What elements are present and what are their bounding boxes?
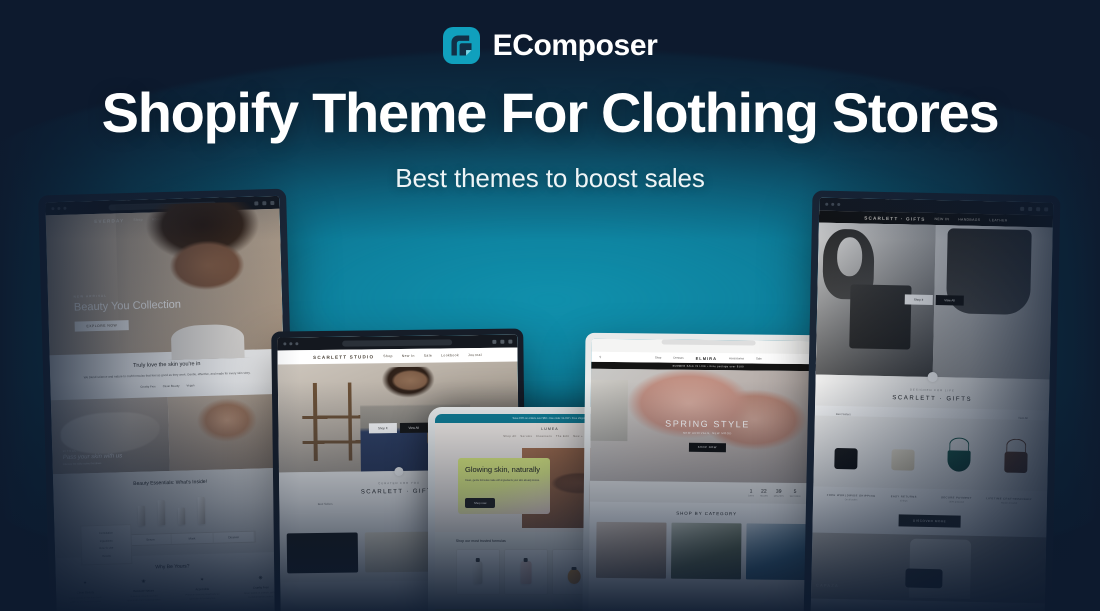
feature-item: FREE WORLDWIDE SHIPPING On all orders bbox=[825, 494, 878, 502]
product-card[interactable] bbox=[991, 427, 1042, 482]
feature-title: LIFETIME CRAFTSMANSHIP bbox=[983, 497, 1036, 501]
countdown-unit: 22 HOURS bbox=[760, 489, 768, 498]
scroll-dot-icon bbox=[394, 467, 403, 476]
countdown-unit: 1 DAYS bbox=[748, 488, 754, 497]
countdown-label: SECONDS bbox=[790, 496, 801, 498]
nav-item[interactable]: HANDBAGS bbox=[958, 218, 980, 222]
beauty-hero: EVERDAY Shop About Journal Rituals Conta… bbox=[46, 209, 284, 355]
countdown-label: HOURS bbox=[760, 496, 768, 498]
hero-body: Clean, gentle formulas made with ingredi… bbox=[465, 479, 543, 483]
why-item-body: Premium skincare priced fairly so good s… bbox=[179, 594, 226, 603]
product-card[interactable] bbox=[364, 532, 435, 573]
feature-item: EASY RETURNS 30 days bbox=[877, 495, 930, 503]
view-all-button[interactable]: View All bbox=[399, 423, 428, 433]
beauty-split-section: RITUAL Pass your skin with us Discover t… bbox=[51, 394, 287, 475]
hero-eyebrow: NEW ARRIVAL bbox=[74, 292, 181, 299]
feature-title: SECURE PAYMENT bbox=[930, 496, 983, 500]
spring-hero-copy: SPRING STYLE NEW ARRIVALS, NEW MOOD SHOP… bbox=[665, 419, 750, 454]
nav-item[interactable]: Shop bbox=[655, 355, 662, 359]
mature-model-photo bbox=[168, 394, 287, 471]
bags-nav-brand: SCARLETT · GIFTS bbox=[864, 215, 925, 221]
window-dots-icon bbox=[283, 342, 298, 345]
window-dots-icon bbox=[51, 207, 66, 210]
tab[interactable]: Mask bbox=[172, 533, 214, 544]
product-card[interactable] bbox=[821, 424, 872, 479]
hero-card: Glowing skin, naturally Clean, gentle fo… bbox=[458, 458, 550, 514]
beauty-essentials-section: Beauty Essentials: What's Inside! Hydrat… bbox=[53, 468, 289, 559]
spring-category-section: SHOP BY CATEGORY bbox=[589, 502, 824, 586]
hero-cta-button[interactable]: EXPLORE NOW bbox=[74, 320, 129, 332]
hero-sub: NEW ARRIVALS, NEW MOOD bbox=[665, 432, 750, 436]
essentials-products bbox=[54, 492, 289, 529]
product-card[interactable] bbox=[456, 549, 500, 595]
hero-cta-button[interactable]: SHOP NOW bbox=[689, 443, 726, 452]
why-item: ❀ Because Nature Botanical extracts sour… bbox=[114, 578, 173, 604]
why-item-body: Botanical extracts sourced responsibly f… bbox=[121, 595, 168, 604]
feature-sub: On all orders bbox=[825, 499, 878, 502]
mockup-spring-store[interactable]: ⚲ Shop Dresses ELMIRA Accessories Sale 🛒… bbox=[582, 333, 831, 611]
brand-eyebrow: DESIGNED FOR LIFE bbox=[815, 386, 1049, 395]
split-sub: Discover the daily routine that glows bbox=[63, 461, 122, 466]
tab[interactable]: Cleanser bbox=[213, 532, 255, 543]
category-card[interactable] bbox=[671, 523, 742, 580]
page-title: Shopify Theme For Clothing Stores bbox=[0, 84, 1100, 143]
countdown-label: MINUTES bbox=[774, 496, 784, 498]
split-eyebrow: RITUAL bbox=[63, 448, 122, 453]
nav-item[interactable]: Accessories bbox=[729, 356, 744, 360]
nav-item[interactable]: Journal bbox=[468, 353, 482, 357]
nav-item[interactable]: Sale bbox=[756, 357, 762, 361]
nav-item[interactable]: Shop All bbox=[503, 435, 517, 438]
countdown-label: DAYS bbox=[748, 495, 754, 497]
nav-item[interactable]: Shop bbox=[383, 354, 393, 358]
bags-hero: Shop It View All bbox=[816, 223, 1053, 380]
discover-more-button[interactable]: DISCOVER MORE bbox=[899, 514, 961, 527]
essentials-title: Beauty Essentials: What's Inside! bbox=[53, 477, 287, 490]
handbag-prop bbox=[905, 569, 943, 588]
countdown-value: 22 bbox=[760, 489, 768, 495]
beauty-hero-copy: NEW ARRIVAL Beauty You Collection EXPLOR… bbox=[74, 292, 182, 333]
browser-actions-icon bbox=[492, 339, 512, 343]
nav-item[interactable]: Sale bbox=[424, 354, 432, 358]
feature-item: LIFETIME CRAFTSMANSHIP Repairs included bbox=[983, 497, 1036, 505]
feature-title: FREE WORLDWIDE SHIPPING bbox=[825, 494, 878, 498]
feature-title: EASY RETURNS bbox=[877, 495, 930, 499]
shop-button[interactable]: Shop It bbox=[369, 423, 397, 433]
nav-item[interactable]: The Edit bbox=[556, 435, 570, 438]
countdown-timer: 1 DAYS 22 HOURS 39 MINUTES 5 SECONDS bbox=[590, 481, 824, 504]
browser-actions-icon bbox=[1020, 206, 1048, 211]
why-item: ✦ Clean Beauty Every formula is free fro… bbox=[56, 580, 115, 606]
brand-name: SCARLETT · GIFTS bbox=[815, 394, 1049, 405]
url-pill bbox=[342, 339, 452, 346]
hero-buttons[interactable]: Shop It View All bbox=[369, 423, 428, 434]
window-dots-icon bbox=[825, 203, 840, 206]
why-item-title: Because Nature bbox=[121, 588, 168, 593]
scroll-dot-icon bbox=[928, 372, 938, 382]
nav-item[interactable]: Dresses bbox=[673, 356, 683, 360]
tab[interactable]: Best Sellers bbox=[318, 502, 333, 506]
nav-item[interactable]: New In bbox=[402, 354, 415, 358]
category-row bbox=[589, 515, 824, 580]
tab[interactable]: Serum bbox=[130, 534, 172, 545]
split-caption: RITUAL Pass your skin with us Discover t… bbox=[63, 448, 123, 466]
hero-title: SPRING STYLE bbox=[665, 419, 750, 430]
product-card[interactable] bbox=[504, 549, 548, 595]
url-pill bbox=[662, 340, 756, 346]
row-link[interactable]: Best Sellers bbox=[836, 412, 851, 416]
row-link[interactable]: View All bbox=[1018, 416, 1028, 420]
fashion-brand: SCARLETT STUDIO bbox=[313, 354, 374, 360]
countdown-value: 5 bbox=[790, 489, 801, 495]
hero-header: EComposer Shopify Theme For Clothing Sto… bbox=[0, 0, 1100, 194]
quote-badges: Cruelty Free Clean Beauty Vegan bbox=[68, 382, 266, 392]
feature-sub: 30 days bbox=[877, 500, 930, 503]
menu-item[interactable]: Results bbox=[82, 552, 132, 561]
bags-product-row bbox=[813, 416, 1048, 492]
nav-item[interactable]: Lookbook bbox=[441, 353, 459, 357]
countdown-unit: 39 MINUTES bbox=[774, 489, 784, 498]
shop-button[interactable]: Shop It bbox=[905, 294, 933, 305]
star-icon: ✶ bbox=[179, 577, 226, 584]
why-item-body: Every formula is free from harsh additiv… bbox=[62, 597, 109, 606]
hero-cta-button[interactable]: Shop now bbox=[465, 498, 495, 508]
feature-sub: 100% protected bbox=[930, 501, 983, 504]
leaf-icon: ✦ bbox=[62, 580, 109, 587]
why-item-title: Clean Beauty bbox=[62, 590, 109, 595]
texture-photo: RITUAL Pass your skin with us Discover t… bbox=[51, 397, 170, 474]
why-columns: ✦ Clean Beauty Every formula is free fro… bbox=[56, 575, 291, 606]
countdown-unit: 5 SECONDS bbox=[790, 489, 801, 498]
view-all-button[interactable]: View All bbox=[935, 295, 964, 306]
feature-item: SECURE PAYMENT 100% protected bbox=[930, 496, 983, 504]
hero-title: Glowing skin, naturally bbox=[465, 465, 543, 475]
mockup-beauty-store[interactable]: EVERDAY Shop About Journal Rituals Conta… bbox=[38, 189, 298, 611]
spring-brand: ELMIRA bbox=[696, 355, 717, 360]
brand-wordmark: EComposer bbox=[493, 31, 658, 61]
search-icon[interactable]: ⚲ bbox=[599, 355, 601, 359]
quote-body: We blend science and nature to craft for… bbox=[68, 370, 266, 381]
mockup-bags-store[interactable]: SCARLETT · GIFTS NEW IN HANDBAGS LEATHER… bbox=[804, 190, 1061, 611]
banner-label: CAPAZA bbox=[816, 583, 839, 588]
split-title: Pass your skin with us bbox=[63, 453, 123, 461]
page-subtitle: Best themes to boost sales bbox=[0, 163, 1100, 194]
badge: Vegan bbox=[186, 384, 194, 388]
spring-hero: SPRING STYLE NEW ARRIVALS, NEW MOOD SHOP… bbox=[590, 369, 825, 483]
nav-item[interactable]: Serums bbox=[520, 435, 532, 438]
ecomposer-logo-icon bbox=[443, 27, 480, 64]
why-item: ✶ Accessible Premium skincare priced fai… bbox=[173, 577, 232, 603]
nav-item[interactable]: NEW IN bbox=[935, 217, 950, 221]
ladder-prop bbox=[302, 383, 365, 462]
badge: Cruelty Free bbox=[140, 385, 155, 389]
countdown-value: 1 bbox=[748, 488, 754, 494]
why-item-title: Accessible bbox=[179, 587, 226, 592]
stone-prop bbox=[590, 380, 628, 441]
product-card[interactable] bbox=[877, 425, 928, 480]
flower-icon: ❀ bbox=[120, 578, 167, 585]
category-card[interactable] bbox=[596, 522, 667, 579]
countdown-value: 39 bbox=[774, 489, 784, 495]
hero-title: Beauty You Collection bbox=[74, 299, 181, 315]
bags-banner: CAPAZA bbox=[811, 533, 1046, 604]
essentials-menu[interactable]: Formulation Ingredients How To Use Resul… bbox=[80, 525, 133, 566]
product-card[interactable] bbox=[287, 533, 358, 574]
nav-item[interactable]: Cleansers bbox=[536, 435, 552, 438]
feature-sub: Repairs included bbox=[983, 502, 1036, 505]
badge: Clean Beauty bbox=[163, 384, 180, 388]
nav-item[interactable]: LEATHER bbox=[989, 218, 1007, 222]
product-card[interactable] bbox=[934, 426, 985, 481]
bags-brand-section: DESIGNED FOR LIFE SCARLETT · GIFTS bbox=[815, 375, 1050, 411]
model-photo bbox=[116, 200, 291, 362]
hero-buttons[interactable]: Shop It View All bbox=[905, 294, 964, 305]
quote-title: Truly love the skin you're in bbox=[68, 359, 266, 371]
brand-logo[interactable]: EComposer bbox=[0, 0, 1100, 64]
